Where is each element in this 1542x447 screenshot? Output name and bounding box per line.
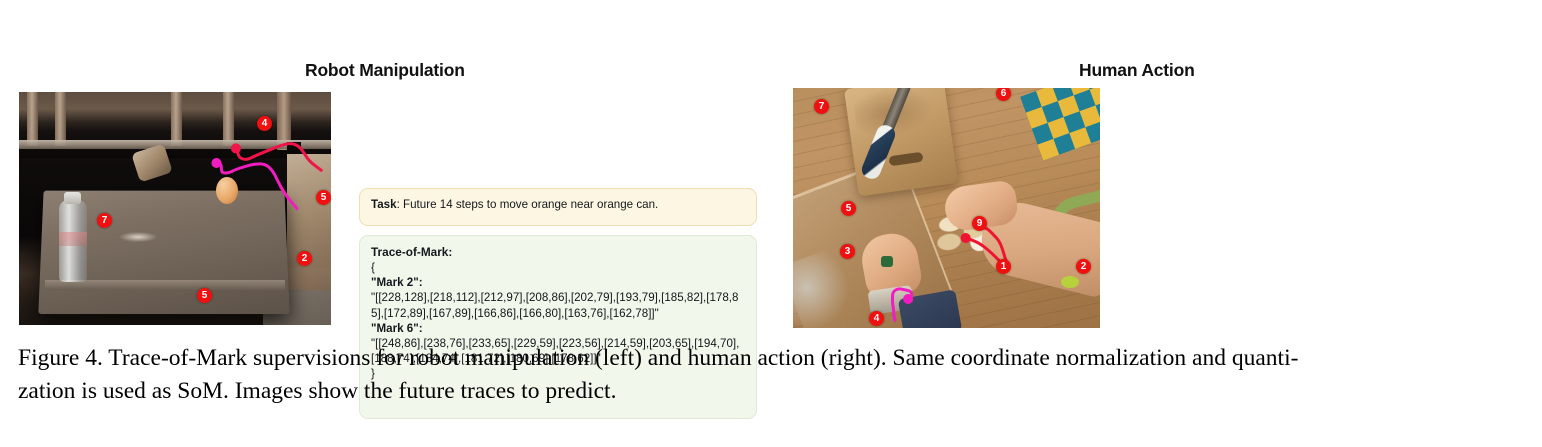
column-title-human-action: Human Action: [1079, 60, 1195, 81]
tom-title-left: Trace-of-Mark:: [371, 244, 745, 260]
mark-badge-right-7: 4: [869, 311, 884, 326]
mark-badge-right-5: 1: [996, 259, 1011, 274]
mark-badge-left-2: 5: [316, 190, 331, 205]
tom-value-left-0: "[[228,128],[218,112],[212,97],[208,86],…: [371, 290, 745, 320]
trace-overlay-right: [793, 88, 1100, 328]
scene-canvas: 47525: [19, 92, 331, 325]
figure-caption: Figure 4. Trace-of-Mark supervisions for…: [18, 342, 1528, 408]
task-text-left: Task: Future 14 steps to move orange nea…: [371, 197, 745, 212]
mark-badge-right-3: 3: [840, 244, 855, 259]
task-label-left: Task: [371, 198, 397, 211]
mark-badge-right-2: 5: [841, 201, 856, 216]
mark-badge-right-6: 2: [1076, 259, 1091, 274]
tom-key-left-0: "Mark 2":: [371, 275, 745, 290]
trace-endpoint-left-1: [231, 143, 241, 153]
trace-overlay-left: [19, 92, 331, 325]
column-title-robot-manipulation: Robot Manipulation: [305, 60, 465, 81]
panel-robot-manipulation: 47525 Task: Future 14 steps to move oran…: [19, 92, 737, 327]
trace-endpoint-right-1: [961, 233, 971, 243]
scene-canvas: 76539124: [793, 88, 1100, 328]
trace-path-right-0: [893, 289, 912, 321]
tom-key-left-1: "Mark 6":: [371, 321, 745, 336]
human-action-image: 76539124: [793, 88, 1100, 328]
mark-badge-right-0: 7: [814, 99, 829, 114]
trace-endpoint-right-0: [903, 294, 913, 304]
mark-badge-left-0: 4: [257, 116, 272, 131]
panel-human-action: 76539124 Task: Future 16 steps to move h…: [793, 88, 1530, 328]
robot-manipulation-image: 47525: [19, 92, 331, 325]
task-body-left: Future 14 steps to move orange near oran…: [403, 198, 658, 211]
trace-endpoint-left-0: [211, 158, 221, 168]
mark-badge-left-4: 5: [197, 288, 212, 303]
task-card-left: Task: Future 14 steps to move orange nea…: [359, 188, 757, 226]
caption-line-2: zation is used as SoM. Images show the f…: [18, 375, 1528, 408]
tom-open-brace-left: {: [371, 260, 745, 275]
mark-badge-right-4: 9: [972, 216, 987, 231]
mark-badge-left-1: 7: [97, 213, 112, 228]
mark-badge-left-3: 2: [297, 251, 312, 266]
trace-path-left-0: [216, 162, 296, 209]
caption-line-1: Figure 4. Trace-of-Mark supervisions for…: [18, 342, 1528, 375]
